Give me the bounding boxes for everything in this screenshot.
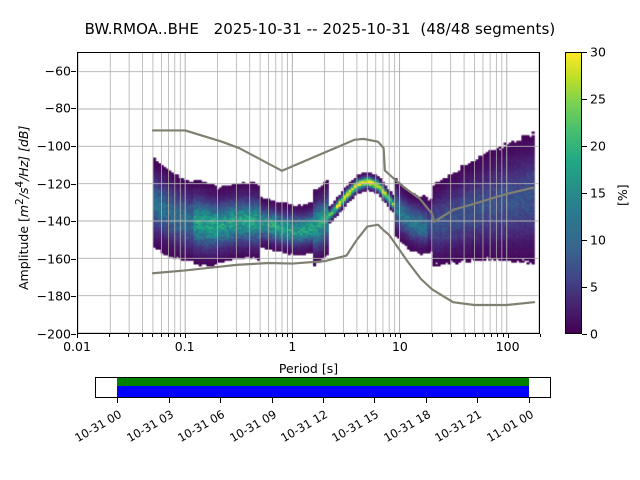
x-axis-tick [497, 334, 498, 337]
timeline-tick-label: 10-31 21 [425, 407, 484, 449]
x-axis-tick [376, 334, 377, 337]
colorbar-tick-label: 30 [590, 45, 606, 60]
x-axis-tick [451, 334, 452, 337]
x-axis-tick [180, 334, 181, 337]
colorbar-title: [%] [615, 184, 630, 206]
colorbar-tick-label: 25 [590, 92, 606, 107]
x-axis-tick [325, 334, 326, 337]
x-axis-tick [109, 334, 110, 337]
timeline-tick [272, 398, 273, 403]
x-axis-title: Period [s] [77, 361, 540, 376]
y-axis-tick [71, 259, 76, 260]
colorbar-tick-label: 10 [590, 233, 606, 248]
x-axis-tick-label: 0.1 [175, 339, 195, 354]
timeline-tick [477, 398, 478, 403]
timeline-tick [323, 398, 324, 403]
y-axis-title-text: Amplitude [m2/s4/Hz] [dB] [16, 126, 31, 290]
peterson-noise-model-curves [78, 53, 539, 333]
y-axis-tick [71, 334, 76, 335]
timeline-tick [426, 398, 427, 403]
y-axis-tick-label: −160 [37, 251, 71, 266]
timeline-tick [529, 398, 530, 403]
ppsd-plot-area [77, 52, 540, 334]
timeline-coverage-box [95, 377, 551, 398]
colorbar-tick [582, 334, 587, 335]
figure-title: BW.RMOA..BHE 2025-10-31 -- 2025-10-31 (4… [0, 20, 640, 38]
x-axis-tick [128, 334, 129, 337]
x-axis-tick [268, 334, 269, 337]
x-axis-tick [260, 334, 261, 337]
x-axis-tick [344, 334, 345, 337]
x-axis-tick-label: 10 [392, 339, 408, 354]
timeline-tick [220, 398, 221, 403]
x-axis-tick [400, 334, 401, 338]
y-axis-tick [71, 108, 76, 109]
x-axis-tick [432, 334, 433, 337]
y-axis-tick-label: −140 [37, 214, 71, 229]
colorbar-tick-label: 15 [590, 186, 606, 201]
x-axis-tick [249, 334, 250, 337]
x-axis-tick [142, 334, 143, 337]
colorbar-tick-label: 0 [590, 327, 598, 342]
x-axis-tick [465, 334, 466, 337]
psd-segments-band [117, 386, 528, 397]
x-axis-tick [282, 334, 283, 337]
colorbar-tick-label: 20 [590, 139, 606, 154]
x-axis-tick [152, 334, 153, 337]
timeline-tick [374, 398, 375, 403]
timeline-tick-label: 10-31 09 [220, 407, 279, 449]
timeline-tick-label: 11-01 00 [477, 407, 536, 449]
timeline-tick-label: 10-31 15 [322, 407, 381, 449]
data-availability-band [117, 378, 528, 386]
x-axis-tick [217, 334, 218, 337]
timeline-tick [117, 398, 118, 403]
x-axis-tick [174, 334, 175, 337]
x-axis-tick [368, 334, 369, 337]
y-axis-tick [71, 184, 76, 185]
colorbar-tick [582, 193, 587, 194]
x-axis-tick [491, 334, 492, 337]
x-axis-tick [508, 334, 509, 338]
y-axis-tick [71, 146, 76, 147]
colorbar-tick-label: 5 [590, 280, 598, 295]
x-axis-tick-label: 0.01 [63, 339, 91, 354]
timeline-tick-label: 10-31 03 [117, 407, 176, 449]
x-axis-tick [161, 334, 162, 337]
timeline-tick-label: 10-31 12 [271, 407, 330, 449]
y-axis-tick-label: −60 [45, 63, 71, 78]
x-axis-tick [276, 334, 277, 337]
y-axis-tick [71, 296, 76, 297]
x-axis-tick [292, 334, 293, 338]
x-axis-tick [503, 334, 504, 337]
colorbar-tick [582, 99, 587, 100]
colorbar [565, 52, 582, 334]
x-axis-tick [287, 334, 288, 337]
timeline-tick-label: 10-31 18 [374, 407, 433, 449]
y-axis-tick-label: −80 [45, 101, 71, 116]
ppsd-figure: BW.RMOA..BHE 2025-10-31 -- 2025-10-31 (4… [0, 0, 640, 480]
x-axis-tick-label: 1 [288, 339, 296, 354]
x-axis-tick [383, 334, 384, 337]
x-axis-tick-label: 100 [496, 339, 520, 354]
colorbar-tick [582, 287, 587, 288]
y-axis-tick-label: −120 [37, 176, 71, 191]
x-axis-tick [357, 334, 358, 337]
y-axis-tick [71, 221, 76, 222]
y-axis-tick [71, 71, 76, 72]
x-axis-tick [185, 334, 186, 338]
y-axis-title: Amplitude [m2/s4/Hz] [dB] [14, 126, 31, 290]
x-axis-tick [540, 334, 541, 337]
y-axis-tick-label: −100 [37, 139, 71, 154]
colorbar-tick [582, 240, 587, 241]
x-axis-tick [168, 334, 169, 337]
y-axis-tick-labels: −60−80−100−120−140−160−180−200 [0, 0, 71, 480]
timeline-tick [169, 398, 170, 403]
colorbar-tick [582, 146, 587, 147]
timeline-tick-label: 10-31 06 [168, 407, 227, 449]
x-axis-tick [390, 334, 391, 337]
x-axis-tick [77, 334, 78, 338]
colorbar-tick [582, 52, 587, 53]
x-axis-tick [395, 334, 396, 337]
x-axis-tick [236, 334, 237, 337]
y-axis-tick-label: −180 [37, 289, 71, 304]
x-axis-tick [484, 334, 485, 337]
x-axis-tick [475, 334, 476, 337]
